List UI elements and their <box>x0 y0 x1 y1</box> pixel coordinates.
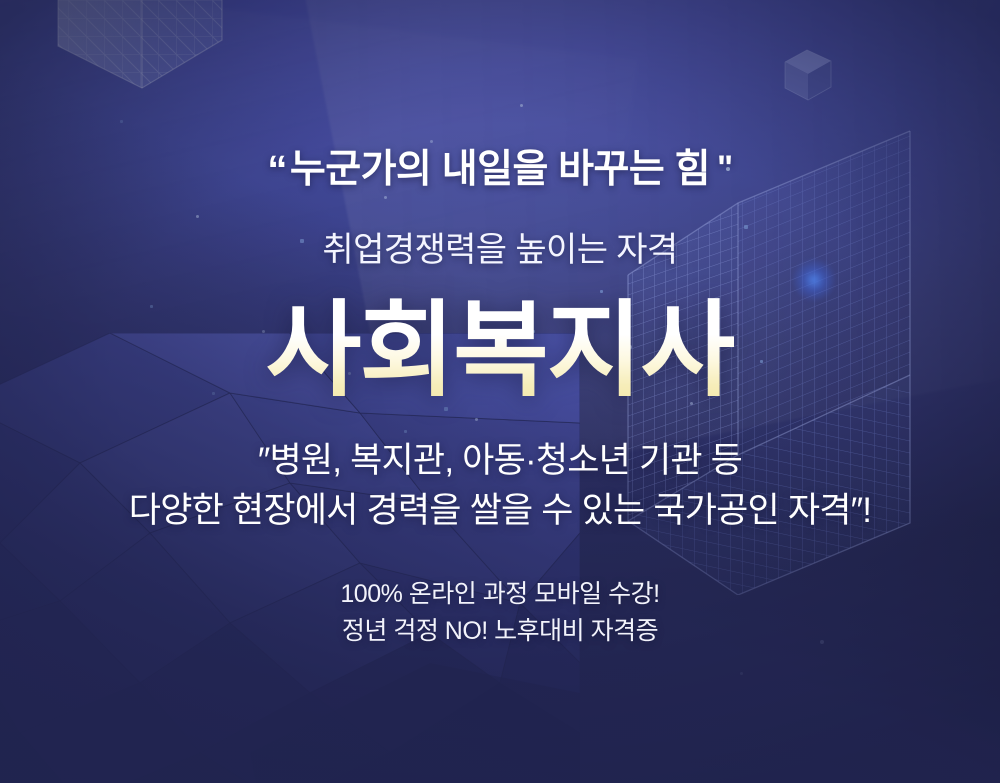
description-line-2: 다양한 현장에서 경력을 쌀을 수 있는 국가공인 자격″! <box>129 486 871 536</box>
headline-quote-close: " <box>717 149 733 187</box>
description: ″병원, 복지관, 아동·청소년 기관 등 다양한 현장에서 경력을 쌀을 수 … <box>129 436 871 537</box>
page-title: 사회복지사 <box>266 291 734 412</box>
subheadline: 취업경쟁력을 높이는 자격 <box>322 222 677 271</box>
note-line-1: 100% 온라인 과정 모바일 수강! <box>340 576 659 613</box>
note-line-2: 정년 걱정 NO! 노후대비 자격증 <box>340 613 659 650</box>
headline: “누군가의 내일을 바꾸는 힘" <box>267 138 732 194</box>
promo-banner: “누군가의 내일을 바꾸는 힘" 취업경쟁력을 높이는 자격 사회복지사 ″병원… <box>0 0 1000 783</box>
headline-quote-open: “ <box>267 148 287 192</box>
notes: 100% 온라인 과정 모바일 수강! 정년 걱정 NO! 노후대비 자격증 <box>340 576 659 650</box>
banner-content: “누군가의 내일을 바꾸는 힘" 취업경쟁력을 높이는 자격 사회복지사 ″병원… <box>0 0 1000 783</box>
headline-text: 누군가의 내일을 바꾸는 힘 <box>290 148 710 191</box>
description-line-1: ″병원, 복지관, 아동·청소년 기관 등 <box>258 441 742 480</box>
